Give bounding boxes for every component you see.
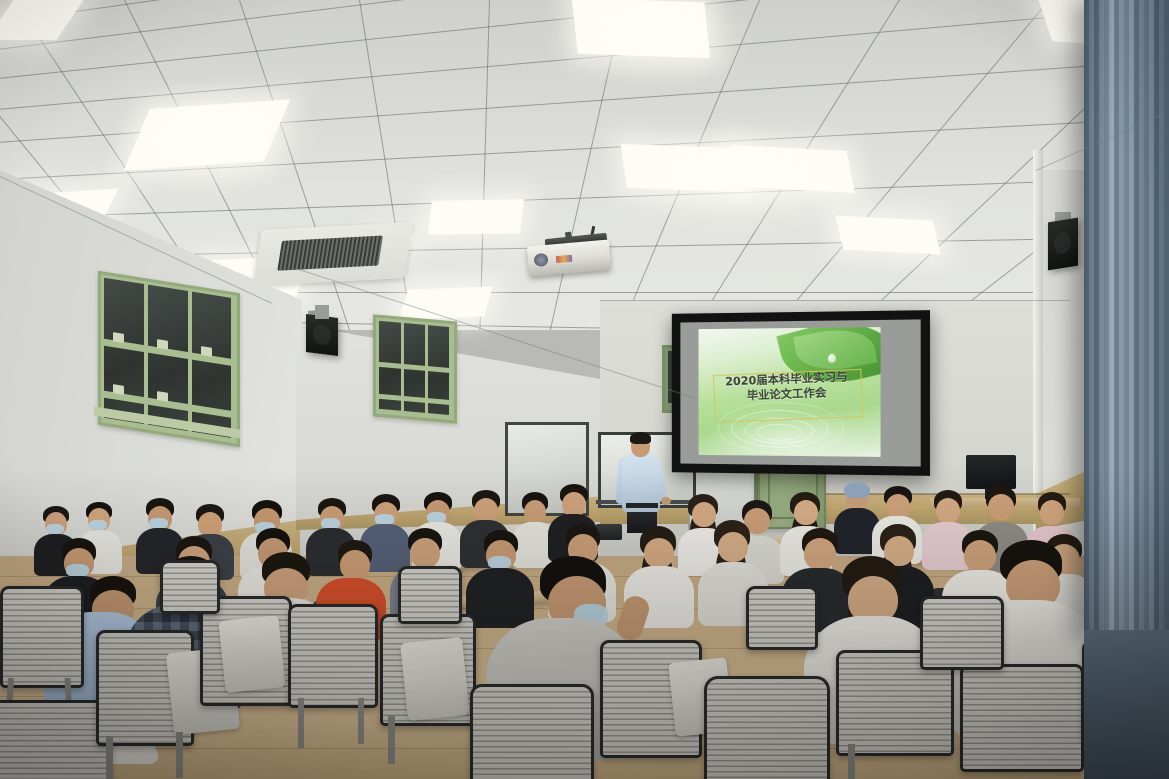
projection-screen: 2020届本科毕业实习与 毕业论文工作会 [672, 310, 930, 476]
window-latch[interactable] [157, 339, 168, 350]
classroom-photo: 2020届本科毕业实习与 毕业论文工作会 [0, 0, 1169, 779]
window-latch[interactable] [157, 391, 168, 402]
presenter-hand [661, 497, 671, 505]
light-glow [610, 125, 870, 235]
curtain-lower[interactable] [1084, 630, 1169, 779]
window-back [373, 314, 457, 423]
light-glow [110, 78, 320, 198]
slide-content: 2020届本科毕业实习与 毕业论文工作会 [699, 327, 881, 457]
projector-badge [556, 255, 573, 263]
ceiling-ac-vent [253, 222, 413, 286]
ceiling-wall-junction [600, 300, 1070, 301]
ceiling-grid-line [479, 0, 490, 330]
speaker-cone [313, 324, 331, 346]
window-latch[interactable] [113, 332, 124, 343]
window-latch[interactable] [201, 346, 212, 357]
ac-grille [277, 236, 383, 271]
speaker-cone [1054, 231, 1071, 256]
speaker-icon [306, 314, 338, 356]
presenter-belt [626, 503, 658, 508]
curtain[interactable] [1084, 0, 1169, 640]
slide-title-text: 2020届本科毕业实习与 毕业论文工作会 [711, 369, 862, 405]
curtain-shading [1084, 0, 1169, 640]
light-glow [555, 0, 755, 90]
window-latch[interactable] [113, 384, 124, 395]
presenter-hair [630, 432, 651, 444]
water-droplet-graphic [828, 354, 836, 363]
monitor-icon [966, 455, 1016, 489]
ceiling-light-panel [399, 287, 493, 320]
speaker-bracket [315, 305, 329, 319]
projector-lens [534, 253, 549, 267]
speaker-icon [1048, 218, 1078, 271]
ceiling-light-panel [428, 199, 524, 235]
ceiling-grid-line [359, 0, 415, 330]
